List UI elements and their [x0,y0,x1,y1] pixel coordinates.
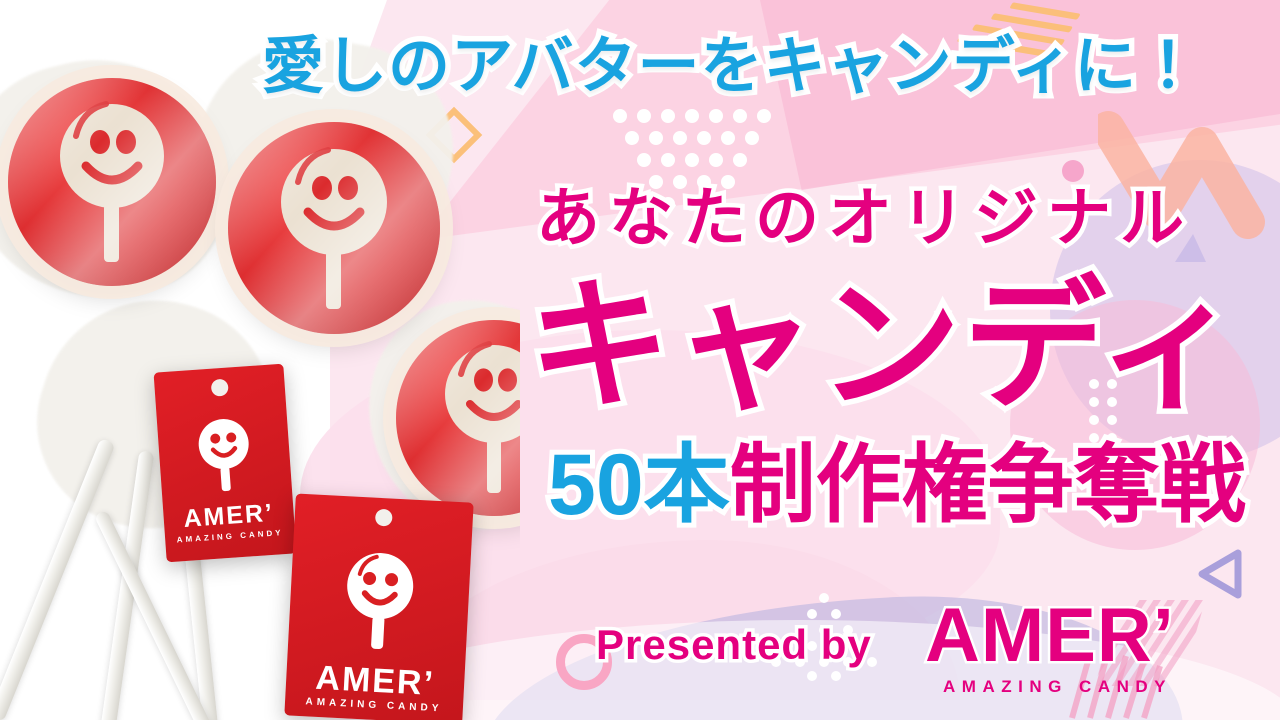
logo-tagline: AMAZING CANDY [943,677,1172,697]
main-title: キャンディ [528,275,1243,418]
campaign-subtitle: 50本制作権争奪戦 [548,442,1246,528]
pink-dot-icon [1062,160,1084,182]
campaign-subtitle-rest: 制作権争奪戦 [730,437,1246,533]
brand-hang-tag: AMER’ AMAZING CANDY [284,493,473,720]
lollipop-candy [8,78,216,286]
lollipop-candy [228,122,440,334]
logo-wordmark: AMER’ [925,598,1175,674]
tag-hole [375,509,393,527]
triangle-outline-icon [1192,545,1250,603]
tag-hole [211,379,229,397]
amer-logo: AMER’ AMAZING CANDY [925,598,1187,702]
lollipop-photo: AMER’ AMAZING CANDY AMER’ AMAZING CANDY [0,0,520,720]
presented-by-label: Presented by [596,624,872,666]
subheadline: あなたのオリジナル [536,186,1193,250]
headline-top: 愛しのアバターをキャンディに！ [262,36,1200,98]
campaign-banner: AMER’ AMAZING CANDY AMER’ AMAZING CANDY [0,0,1280,720]
brand-hang-tag: AMER’ AMAZING CANDY [154,364,297,563]
lollipop-candy [396,320,520,516]
campaign-count: 50本 [548,437,730,533]
